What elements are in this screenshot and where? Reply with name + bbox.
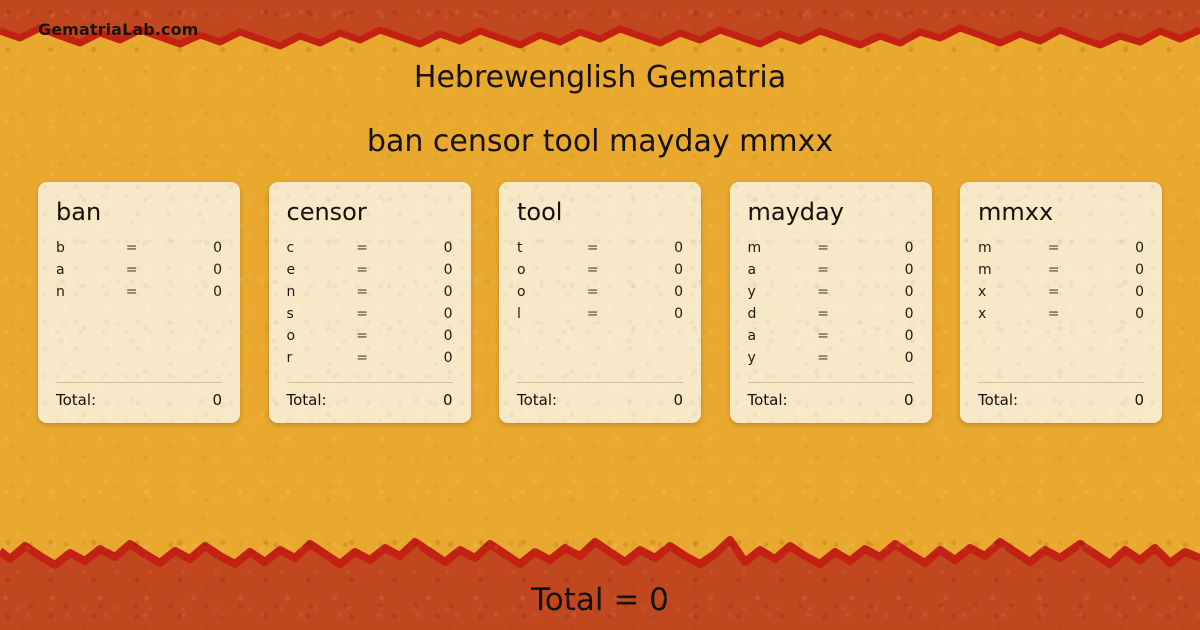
- letter-row: e = 0: [287, 262, 453, 284]
- letter-row: n = 0: [287, 284, 453, 306]
- equals-sign: =: [817, 240, 860, 256]
- letter-value: 0: [169, 240, 222, 256]
- card-divider: [978, 382, 1144, 383]
- letter: n: [287, 284, 357, 300]
- card-total-row: Total: 0: [748, 391, 914, 409]
- letter-row: y = 0: [748, 350, 914, 372]
- card-word: tool: [517, 200, 683, 224]
- equals-sign: =: [1048, 306, 1091, 322]
- letter: s: [287, 306, 357, 322]
- equals-sign: =: [817, 306, 860, 322]
- equals-sign: =: [587, 262, 630, 278]
- letter: o: [517, 262, 587, 278]
- letter-value: 0: [860, 262, 913, 278]
- letter-value-list: c = 0 e = 0 n = 0 s: [287, 240, 453, 372]
- letter: y: [748, 284, 818, 300]
- card-word: mmxx: [978, 200, 1144, 224]
- total-value: 0: [904, 391, 914, 409]
- letter: m: [748, 240, 818, 256]
- letter-value-list: m = 0 m = 0 x = 0 x: [978, 240, 1144, 328]
- equals-sign: =: [356, 306, 399, 322]
- total-value: 0: [673, 391, 683, 409]
- equals-sign: =: [817, 262, 860, 278]
- letter-value: 0: [399, 328, 452, 344]
- letter-value: 0: [630, 306, 683, 322]
- card-divider: [748, 382, 914, 383]
- equals-sign: =: [1048, 284, 1091, 300]
- card-word: mayday: [748, 200, 914, 224]
- letter: y: [748, 350, 818, 366]
- letter-row: n = 0: [56, 284, 222, 306]
- card-spacer: [978, 328, 1144, 372]
- total-value: 0: [212, 391, 222, 409]
- letter-value: 0: [630, 284, 683, 300]
- word-card: tool t = 0 o = 0 o = 0: [499, 182, 701, 423]
- card-divider: [517, 382, 683, 383]
- letter: c: [287, 240, 357, 256]
- letter: a: [748, 328, 818, 344]
- letter: o: [517, 284, 587, 300]
- equals-sign: =: [1048, 240, 1091, 256]
- letter-row: o = 0: [517, 284, 683, 306]
- letter-row: b = 0: [56, 240, 222, 262]
- equals-sign: =: [356, 262, 399, 278]
- equals-sign: =: [126, 262, 169, 278]
- card-total-row: Total: 0: [978, 391, 1144, 409]
- word-card: mmxx m = 0 m = 0 x = 0: [960, 182, 1162, 423]
- letter-value: 0: [630, 240, 683, 256]
- letter: x: [978, 306, 1048, 322]
- letter-value: 0: [860, 306, 913, 322]
- letter: a: [748, 262, 818, 278]
- letter: x: [978, 284, 1048, 300]
- letter-value: 0: [860, 350, 913, 366]
- letter-row: m = 0: [978, 262, 1144, 284]
- letter-value-list: m = 0 a = 0 y = 0 d: [748, 240, 914, 372]
- page-title: Hebrewenglish Gematria: [0, 60, 1200, 95]
- letter-row: o = 0: [517, 262, 683, 284]
- letter-row: x = 0: [978, 306, 1144, 328]
- letter-value: 0: [399, 306, 452, 322]
- letter: m: [978, 262, 1048, 278]
- letter-row: c = 0: [287, 240, 453, 262]
- letter-value: 0: [399, 262, 452, 278]
- letter-row: m = 0: [748, 240, 914, 262]
- letter-value: 0: [169, 284, 222, 300]
- equals-sign: =: [356, 328, 399, 344]
- equals-sign: =: [587, 240, 630, 256]
- letter: m: [978, 240, 1048, 256]
- letter-row: a = 0: [748, 262, 914, 284]
- letter: e: [287, 262, 357, 278]
- letter-value: 0: [399, 240, 452, 256]
- letter-row: y = 0: [748, 284, 914, 306]
- letter-value: 0: [630, 262, 683, 278]
- letter-value: 0: [860, 284, 913, 300]
- card-body: censor c = 0 e = 0 n = 0: [287, 200, 453, 409]
- letter-row: x = 0: [978, 284, 1144, 306]
- total-value: 0: [443, 391, 453, 409]
- card-total-row: Total: 0: [287, 391, 453, 409]
- word-card-row: ban b = 0 a = 0 n = 0: [38, 182, 1162, 423]
- total-value: 0: [1134, 391, 1144, 409]
- letter: b: [56, 240, 126, 256]
- letter-row: d = 0: [748, 306, 914, 328]
- card-body: ban b = 0 a = 0 n = 0: [56, 200, 222, 409]
- word-card: censor c = 0 e = 0 n = 0: [269, 182, 471, 423]
- letter-row: a = 0: [748, 328, 914, 350]
- letter: n: [56, 284, 126, 300]
- letter-value: 0: [1091, 306, 1144, 322]
- total-label: Total:: [517, 391, 673, 409]
- card-body: mayday m = 0 a = 0 y = 0: [748, 200, 914, 409]
- phrase-heading: ban censor tool mayday mmxx: [0, 124, 1200, 159]
- card-divider: [56, 382, 222, 383]
- equals-sign: =: [587, 306, 630, 322]
- equals-sign: =: [1048, 262, 1091, 278]
- letter: t: [517, 240, 587, 256]
- letter-value-list: t = 0 o = 0 o = 0 l: [517, 240, 683, 328]
- letter-row: o = 0: [287, 328, 453, 350]
- letter-value: 0: [1091, 262, 1144, 278]
- equals-sign: =: [817, 350, 860, 366]
- letter-value-list: b = 0 a = 0 n = 0: [56, 240, 222, 306]
- letter-value: 0: [399, 350, 452, 366]
- letter: d: [748, 306, 818, 322]
- letter-value: 0: [169, 262, 222, 278]
- letter: o: [287, 328, 357, 344]
- gematria-result-image: GematriaLab.com Hebrewenglish Gematria b…: [0, 0, 1200, 630]
- card-body: mmxx m = 0 m = 0 x = 0: [978, 200, 1144, 409]
- total-label: Total:: [978, 391, 1134, 409]
- word-card: ban b = 0 a = 0 n = 0: [38, 182, 240, 423]
- letter: a: [56, 262, 126, 278]
- card-word: censor: [287, 200, 453, 224]
- letter-row: a = 0: [56, 262, 222, 284]
- total-label: Total:: [287, 391, 443, 409]
- card-spacer: [56, 306, 222, 372]
- letter-row: r = 0: [287, 350, 453, 372]
- equals-sign: =: [126, 284, 169, 300]
- letter-value: 0: [860, 240, 913, 256]
- equals-sign: =: [356, 240, 399, 256]
- letter-row: l = 0: [517, 306, 683, 328]
- grand-total: Total = 0: [0, 582, 1200, 618]
- card-word: ban: [56, 200, 222, 224]
- total-label: Total:: [56, 391, 212, 409]
- letter: r: [287, 350, 357, 366]
- letter-row: t = 0: [517, 240, 683, 262]
- letter-value: 0: [399, 284, 452, 300]
- equals-sign: =: [356, 284, 399, 300]
- total-label: Total:: [748, 391, 904, 409]
- equals-sign: =: [817, 328, 860, 344]
- site-watermark: GematriaLab.com: [38, 20, 198, 39]
- letter-row: s = 0: [287, 306, 453, 328]
- equals-sign: =: [356, 350, 399, 366]
- equals-sign: =: [817, 284, 860, 300]
- equals-sign: =: [587, 284, 630, 300]
- letter-value: 0: [1091, 284, 1144, 300]
- card-body: tool t = 0 o = 0 o = 0: [517, 200, 683, 409]
- letter-value: 0: [860, 328, 913, 344]
- letter-value: 0: [1091, 240, 1144, 256]
- card-total-row: Total: 0: [517, 391, 683, 409]
- letter: l: [517, 306, 587, 322]
- card-spacer: [517, 328, 683, 372]
- card-total-row: Total: 0: [56, 391, 222, 409]
- card-divider: [287, 382, 453, 383]
- equals-sign: =: [126, 240, 169, 256]
- word-card: mayday m = 0 a = 0 y = 0: [730, 182, 932, 423]
- letter-row: m = 0: [978, 240, 1144, 262]
